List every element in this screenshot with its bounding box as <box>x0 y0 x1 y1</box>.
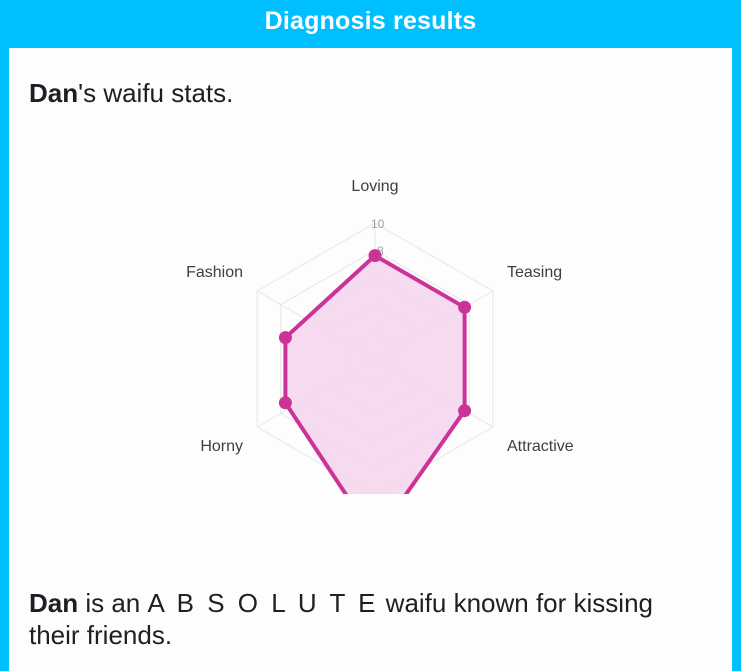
content-card: Dan's waifu stats. <box>9 48 732 671</box>
radar-chart: 2 4 6 8 10 Loving <box>9 114 732 494</box>
header-band: Diagnosis results <box>0 0 741 42</box>
verdict-emphasis: A B S O L U T E <box>148 588 379 618</box>
axis-label-loving: Loving <box>351 178 398 195</box>
diagnosis-results-page: Diagnosis results Dan's waifu stats. <box>0 0 741 671</box>
axis-label-fashion: Fashion <box>186 264 243 281</box>
stats-heading-name: Dan <box>29 78 78 108</box>
radar-point-loving <box>369 249 382 262</box>
tick-label-10: 10 <box>371 217 385 231</box>
verdict-name: Dan <box>29 588 78 618</box>
radar-point-teasing <box>458 301 471 314</box>
radar-series-dan <box>279 249 471 494</box>
verdict-before: is an <box>78 588 147 618</box>
axis-label-teasing: Teasing <box>507 264 562 281</box>
axis-label-horny: Horny <box>200 438 243 455</box>
axis-label-attractive: Attractive <box>507 438 574 455</box>
radar-point-fashion <box>279 331 292 344</box>
radar-point-horny <box>279 396 292 409</box>
stats-heading: Dan's waifu stats. <box>29 78 233 109</box>
radar-point-attractive <box>458 404 471 417</box>
radar-chart-svg: 2 4 6 8 10 Loving <box>9 114 732 494</box>
page-title: Diagnosis results <box>265 9 477 34</box>
verdict-text: Dan is an A B S O L U T E waifu known fo… <box>29 588 709 651</box>
stats-heading-suffix: 's waifu stats. <box>78 78 233 108</box>
